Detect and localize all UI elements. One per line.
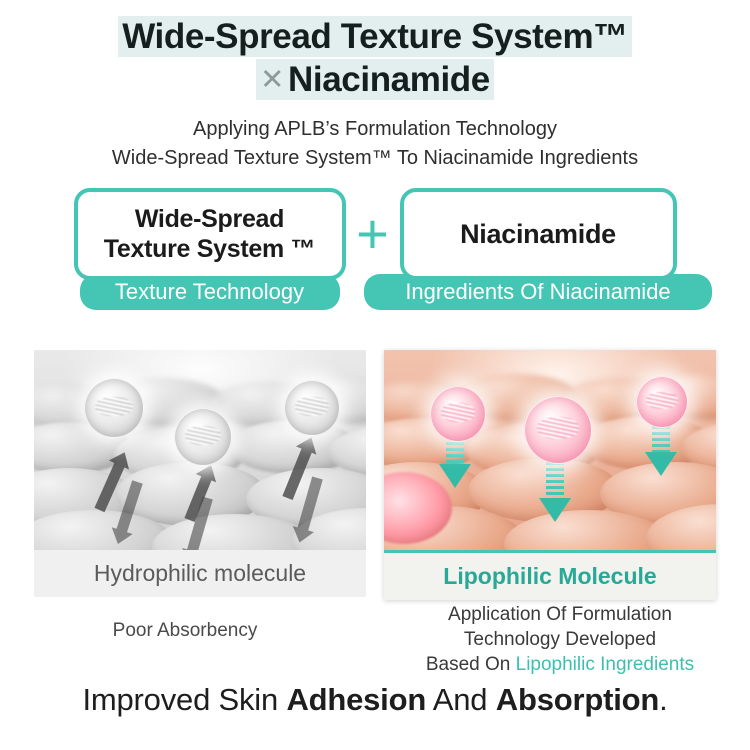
panel-hydrophilic-caption: Hydrophilic molecule (34, 550, 366, 597)
panel-hydrophilic: Hydrophilic molecule (34, 350, 366, 600)
closing-middle: And (426, 682, 496, 717)
arrow-head (539, 498, 571, 522)
droplet-core (295, 397, 330, 415)
molecule-droplet (524, 396, 592, 464)
card-texture-system-title: Wide-Spread Texture System ™ (104, 204, 315, 265)
molecule-droplet (174, 408, 232, 466)
droplet-core (441, 403, 476, 421)
card-texture-system-box: Wide-Spread Texture System ™ (74, 188, 346, 280)
title-text-primary: Wide-Spread Texture System™ (118, 16, 632, 57)
title-line-2: ✕Niacinamide (0, 59, 750, 102)
closing-bold-absorption: Absorption (496, 682, 659, 717)
panel-hydrophilic-image (34, 350, 366, 550)
absorb-arrow (652, 420, 670, 476)
subtitle-line-2: Wide-Spread Texture System™ To Niacinami… (0, 144, 750, 172)
title-line-2-highlight: ✕Niacinamide (256, 59, 494, 100)
card-left-title-line2: Texture System ™ (104, 234, 315, 265)
card-niacinamide-box: Niacinamide (400, 188, 677, 280)
molecule-droplet (636, 376, 688, 428)
panel-footnotes: Poor Absorbency Application Of Formulati… (0, 606, 750, 686)
footnote-line-3-highlight: Lipophilic Ingredients (516, 654, 695, 675)
card-niacinamide-title: Niacinamide (460, 218, 616, 251)
infographic-page: Wide-Spread Texture System™ ✕Niacinamide… (0, 0, 750, 750)
molecule-droplet (84, 378, 144, 438)
footnote-line-2: Technology Developed (384, 627, 736, 652)
footnote-line-1: Application Of Formulation (384, 602, 736, 627)
footnote-poor-absorbency: Poor Absorbency (0, 620, 370, 642)
title-line-1: Wide-Spread Texture System™ (0, 16, 750, 59)
closing-statement: Improved Skin Adhesion And Absorption. (0, 682, 750, 718)
card-left-title-line1: Wide-Spread (104, 204, 315, 235)
molecule-droplet (430, 386, 486, 442)
plus-icon: + (346, 188, 400, 280)
formula-cards-row: Wide-Spread Texture System ™ Texture Tec… (0, 188, 750, 334)
footnote-line-3-prefix: Based On (426, 654, 516, 675)
molecule-droplet (284, 380, 340, 436)
closing-suffix: . (659, 682, 667, 717)
absorb-arrow (546, 456, 564, 522)
closing-bold-adhesion: Adhesion (286, 682, 426, 717)
title-text-secondary: Niacinamide (288, 60, 490, 99)
droplet-core (95, 397, 132, 417)
card-texture-system: Wide-Spread Texture System ™ Texture Tec… (74, 188, 346, 280)
multiply-x-icon: ✕ (260, 63, 288, 98)
closing-prefix: Improved Skin (82, 682, 286, 717)
droplet-core (185, 426, 221, 445)
droplet-core (646, 392, 678, 409)
panel-lipophilic-caption: Lipophilic Molecule (384, 550, 716, 600)
arrow-head (645, 452, 677, 476)
footnote-lipophilic: Application Of Formulation Technology De… (384, 602, 736, 677)
panel-lipophilic-image (384, 350, 716, 550)
card-niacinamide: Niacinamide Ingredients Of Niacinamide (400, 188, 677, 280)
subtitle-line-1: Applying APLB’s Formulation Technology (0, 115, 750, 143)
footnote-line-3: Based On Lipophilic Ingredients (384, 652, 736, 677)
panel-lipophilic: Lipophilic Molecule (384, 350, 716, 600)
title-block: Wide-Spread Texture System™ ✕Niacinamide (0, 0, 750, 101)
comparison-panels: Hydrophilic molecule (0, 350, 750, 600)
droplet-core (537, 417, 579, 439)
subtitle-block: Applying APLB’s Formulation Technology W… (0, 115, 750, 172)
arrow-head (439, 464, 471, 488)
